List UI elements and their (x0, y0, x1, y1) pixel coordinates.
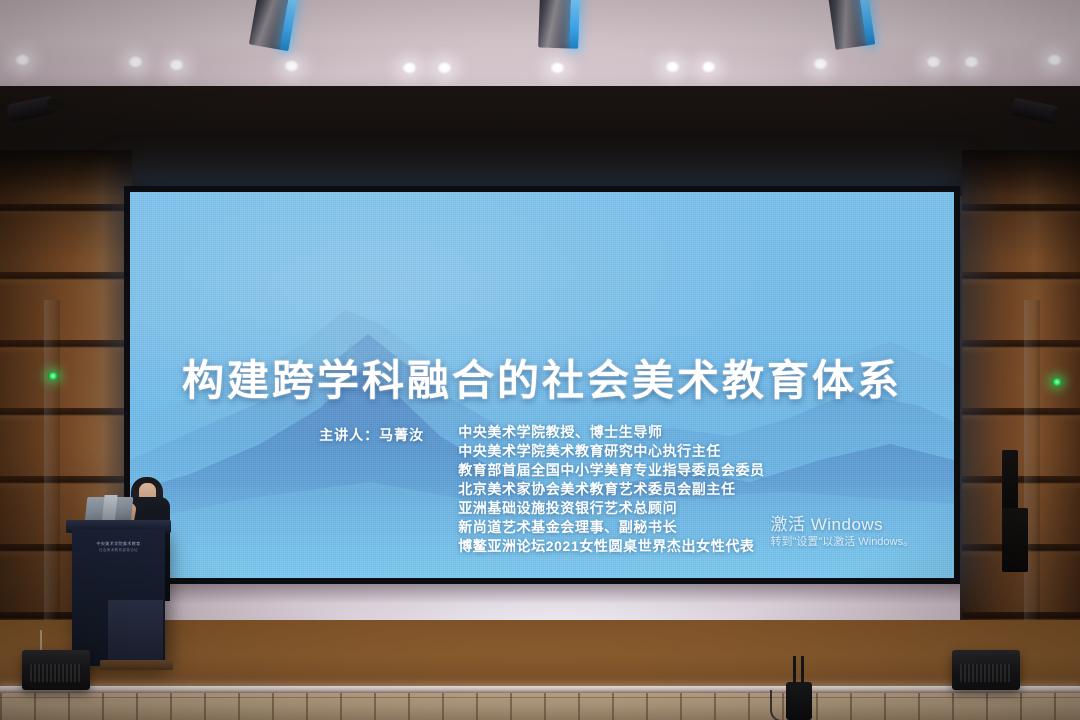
right-wall-pilaster (1024, 300, 1040, 650)
downlight (664, 61, 681, 74)
soffit-blue-glow (569, 0, 580, 49)
ceiling-soffit-fixture (249, 0, 292, 50)
stage-spotlight (1011, 97, 1060, 124)
credential-item: 中央美术学院教授、博士生导师 (458, 424, 765, 441)
downlight (963, 56, 980, 69)
downlight (168, 59, 185, 72)
downlight (549, 62, 566, 75)
right-wood-wall (962, 150, 1080, 650)
right-wall-speaker-base (1002, 508, 1028, 572)
left-green-indicator-light (48, 372, 58, 380)
slide-surface: 构建跨学科融合的社会美术教育体系 主讲人：马菁汝 中央美术学院教授、博士生导师 … (130, 192, 954, 578)
mic-rod (793, 656, 796, 684)
watermark-title: 激活 Windows (771, 514, 915, 535)
downlight (283, 60, 300, 73)
mic-rod (801, 656, 804, 684)
slide-title: 构建跨学科融合的社会美术教育体系 (130, 347, 954, 408)
downlight (925, 56, 942, 69)
credential-item: 北京美术家协会美术教育艺术委员会副主任 (458, 481, 765, 498)
credential-item: 新尚道艺术基金会理事、副秘书长 (458, 519, 765, 536)
downlight (812, 58, 829, 71)
downlight (700, 61, 717, 74)
ceiling-soffit-fixture (828, 0, 869, 50)
downlight (401, 62, 418, 75)
right-green-indicator-light (1052, 378, 1062, 386)
podium-plaque-line2: 社会美术教育高端论坛 (78, 547, 159, 553)
speaker-name-label: 主讲人：马菁汝 (319, 424, 424, 445)
lecture-hall-photo: 构建跨学科融合的社会美术教育体系 主讲人：马菁汝 中央美术学院教授、博士生导师 … (0, 0, 1080, 720)
downlight (1046, 54, 1063, 67)
downlight (14, 54, 31, 67)
right-wall-shadow (962, 150, 1080, 196)
stage-edge-lip (0, 686, 1080, 693)
floor-monitor-left (22, 650, 90, 690)
led-presentation-screen: 构建跨学科融合的社会美术教育体系 主讲人：马菁汝 中央美术学院教授、博士生导师 … (124, 186, 960, 584)
ceiling-soffit-fixture (538, 0, 574, 49)
ceiling (0, 0, 1080, 92)
microphone-stand (786, 682, 812, 720)
floor-monitor-right (952, 650, 1020, 690)
watermark-subtitle: 转到"设置"以激活 Windows。 (771, 535, 915, 550)
podium-plaque: 中央美术学院美术教育 社会美术教育高端论坛 (78, 541, 159, 553)
credential-item: 亚洲基础设施投资银行艺术总顾问 (458, 500, 765, 517)
speaker-credentials-list: 中央美术学院教授、博士生导师 中央美术学院美术教育研究中心执行主任 教育部首届全… (458, 424, 765, 555)
downlight (127, 56, 144, 69)
left-wall-shadow (0, 150, 132, 196)
left-wall-pilaster (44, 300, 60, 650)
stage-spotlight (7, 95, 56, 122)
upper-dark-band (0, 86, 1080, 196)
credential-item: 中央美术学院美术教育研究中心执行主任 (458, 443, 765, 460)
windows-activation-watermark: 激活 Windows 转到"设置"以激活 Windows。 (771, 514, 915, 550)
credential-item: 教育部首届全国中小学美育专业指导委员会委员 (458, 462, 765, 479)
credential-item: 博鳌亚洲论坛2021女性圆桌世界杰出女性代表 (458, 538, 765, 555)
stage-left-blue-panel (108, 600, 163, 662)
downlight (436, 62, 453, 75)
stage-apron-panels (0, 693, 1080, 720)
